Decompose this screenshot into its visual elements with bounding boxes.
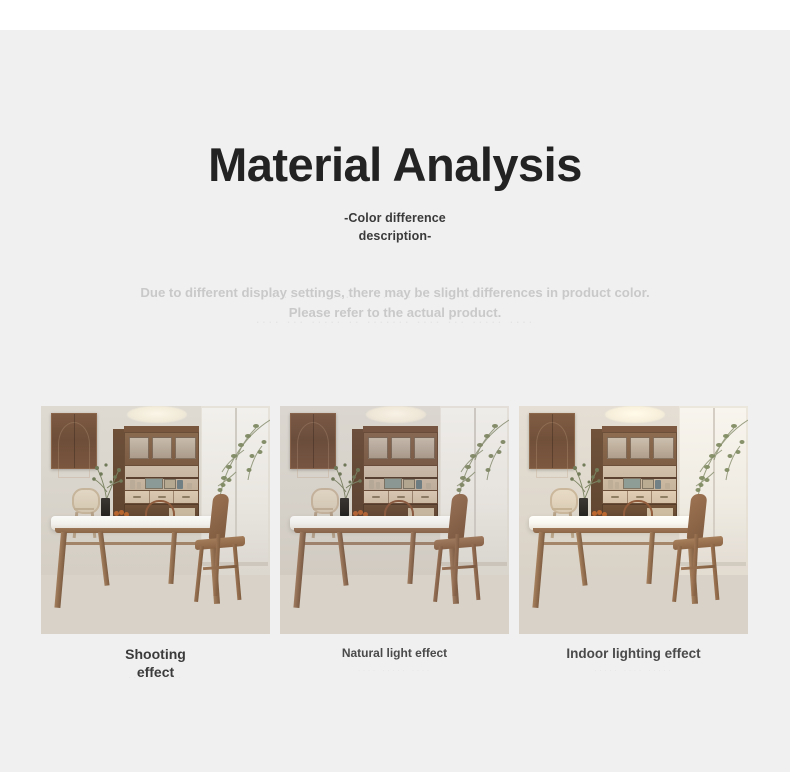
page-title: Material Analysis [0,140,790,189]
header: Material Analysis -Color difference desc… [0,140,790,246]
shelf-jar [369,480,374,489]
chair-leg [472,544,481,600]
hutch-upper-cabinet [363,432,438,466]
hutch-glass-door [368,437,388,459]
shelf-box [642,479,654,489]
chair-leg [194,546,204,602]
hutch-upper-cabinet [602,432,677,466]
chair-backrest [311,488,339,514]
chair-stretcher [203,565,237,570]
dining-chair-right [667,494,727,606]
shelf-jar [608,480,613,489]
caption-shooting-effect: Shooting effect [41,646,270,681]
chair-backrest [72,488,100,514]
caption-cell-natural-light-effect: Natural light effect ···· ····· ···· [280,646,509,706]
hutch-glass-door [630,437,650,459]
chair-backrest [550,488,578,514]
disclaimer-text: Due to different display settings, there… [135,283,655,324]
shelf-jar [426,483,431,489]
shelf-box [164,479,176,489]
chair-stretcher [681,565,715,570]
hutch-open-shelving [124,466,199,490]
hutch-glass-door [414,437,435,459]
chair-leg [672,546,682,602]
hutch-drawer [125,491,150,503]
wall-cabinet-arch-detail [297,422,329,478]
caption-ghost-natural-light-effect: ···· ····· ···· [280,665,509,675]
gallery-photo-shooting-effect[interactable] [41,406,270,634]
shelf-jar [137,482,141,489]
gallery-photo-indoor-lighting-effect[interactable] [519,406,748,634]
material-analysis-page: Material Analysis -Color difference desc… [0,0,790,772]
shelf-jar [177,480,183,489]
chair-leg [433,546,443,602]
dining-chair-right [189,494,249,606]
shelf-box [623,478,641,489]
hutch-glass-door [607,437,627,459]
hutch-open-shelving [602,466,677,490]
hutch-glass-door [391,437,411,459]
hutch-glass-door [129,437,149,459]
shelf-jar [130,480,135,489]
hutch-open-shelving [363,466,438,490]
shelf-box [145,478,163,489]
shelf-jar [416,480,422,489]
pendant-lamp [605,406,665,423]
shelf-box [384,478,402,489]
caption-ghost-indoor-lighting-effect: ····· ···· ····· [519,665,748,675]
gallery-photo-natural-light-effect[interactable] [280,406,509,634]
hutch-glass-door [152,437,172,459]
gallery-captions: Shooting effect ······ ···· Natural ligh… [41,646,749,706]
hutch-glass-door [175,437,196,459]
hutch-upper-cabinet [124,432,199,466]
shelf-jar [655,480,661,489]
chair-slat [74,508,94,510]
shelf-jar [187,483,192,489]
chair-stretcher [442,565,476,570]
dining-room-scene-image [280,406,509,634]
caption-natural-light-effect: Natural light effect [280,646,509,661]
comparison-gallery [41,406,749,634]
pendant-lamp [366,406,426,423]
caption-cell-indoor-lighting-effect: Indoor lighting effect ····· ···· ····· [519,646,748,706]
dining-room-scene-image [519,406,748,634]
shelf-box [403,479,415,489]
chair-leg [711,544,720,600]
dining-room-scene-image [41,406,270,634]
black-vase [579,498,588,518]
shelf-jar [376,482,380,489]
caption-cell-shooting-effect: Shooting effect ······ ···· [41,646,270,706]
dining-chair-right [428,494,488,606]
hutch-drawer [364,491,389,503]
chair-slat [552,508,572,510]
black-vase [101,498,110,518]
chair-leg [233,544,242,600]
hutch-glass-door [653,437,674,459]
shelf-jar [615,482,619,489]
page-subtitle: -Color difference description- [0,209,790,245]
shelf-jar [665,483,670,489]
wall-cabinet-arch-detail [58,422,90,478]
chair-slat [313,508,333,510]
disclaimer-block: Due to different display settings, there… [0,283,790,324]
hutch-drawer [603,491,628,503]
pendant-lamp [127,406,187,423]
wall-cabinet-arch-detail [536,422,568,478]
caption-indoor-lighting-effect: Indoor lighting effect [519,646,748,663]
black-vase [340,498,349,518]
